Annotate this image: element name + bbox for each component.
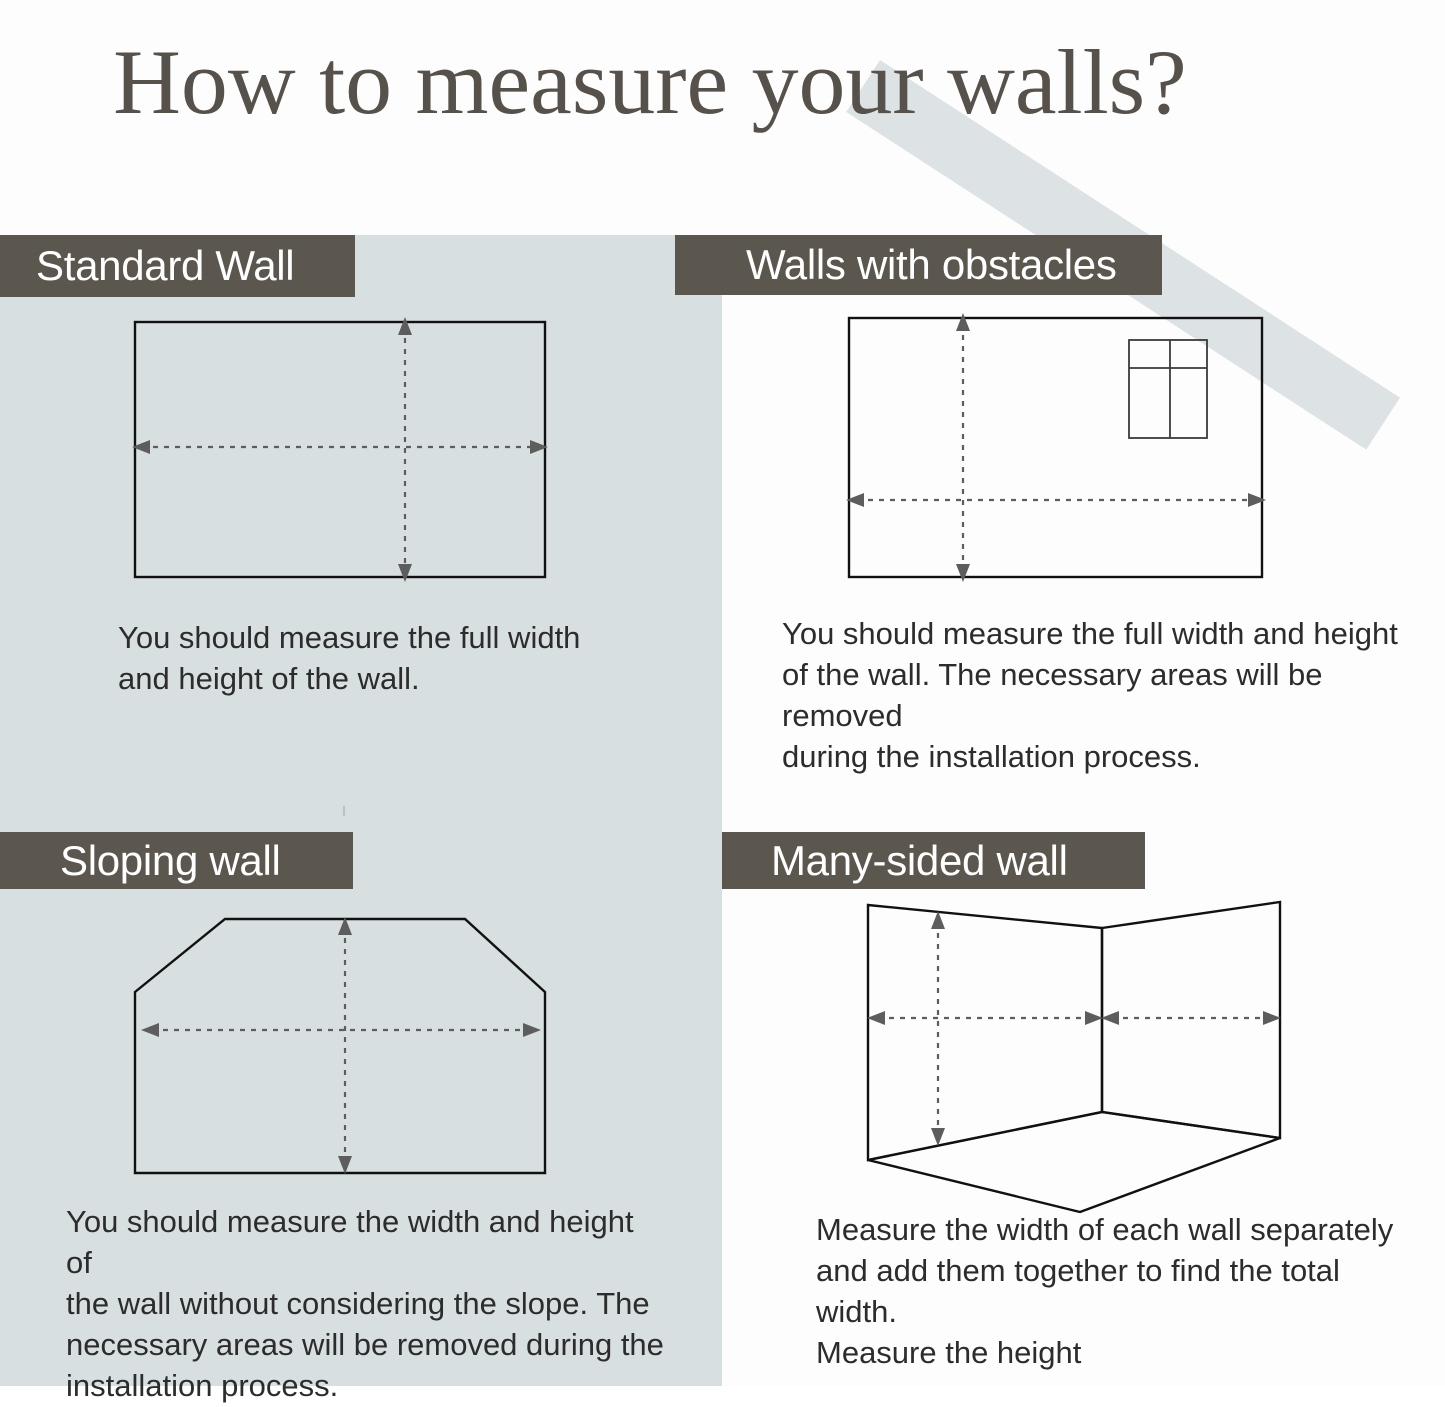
- section-body-walls-with-obstacles: You should measure the full width and he…: [782, 614, 1412, 778]
- diagram-many-sided-wall: [840, 890, 1320, 1220]
- section-header-sloping-wall: Sloping wall: [0, 832, 353, 889]
- section-header-many-sided-wall: Many-sided wall: [722, 832, 1145, 889]
- diagram-standard-wall: [120, 305, 570, 595]
- section-body-sloping-wall: You should measure the width and height …: [66, 1202, 666, 1407]
- section-header-label: Standard Wall: [36, 242, 294, 290]
- section-body-standard-wall: You should measure the full width and he…: [118, 618, 638, 700]
- infographic-root: How to measure your walls? Standard Wall…: [0, 0, 1445, 1386]
- page-title: How to measure your walls?: [0, 34, 1313, 131]
- section-header-standard-wall: Standard Wall: [0, 235, 355, 297]
- diagram-walls-with-obstacles: [835, 300, 1285, 595]
- section-header-label: Many-sided wall: [771, 837, 1068, 885]
- diagram-sloping-wall: [110, 895, 580, 1195]
- window-obstacle: [1129, 340, 1207, 438]
- section-header-label: Walls with obstacles: [746, 241, 1117, 289]
- section-body-many-sided-wall: Measure the width of each wall separatel…: [816, 1210, 1426, 1374]
- section-header-label: Sloping wall: [60, 837, 281, 885]
- section-header-walls-with-obstacles: Walls with obstacles: [675, 235, 1162, 295]
- stray-tick-mark: [343, 806, 345, 816]
